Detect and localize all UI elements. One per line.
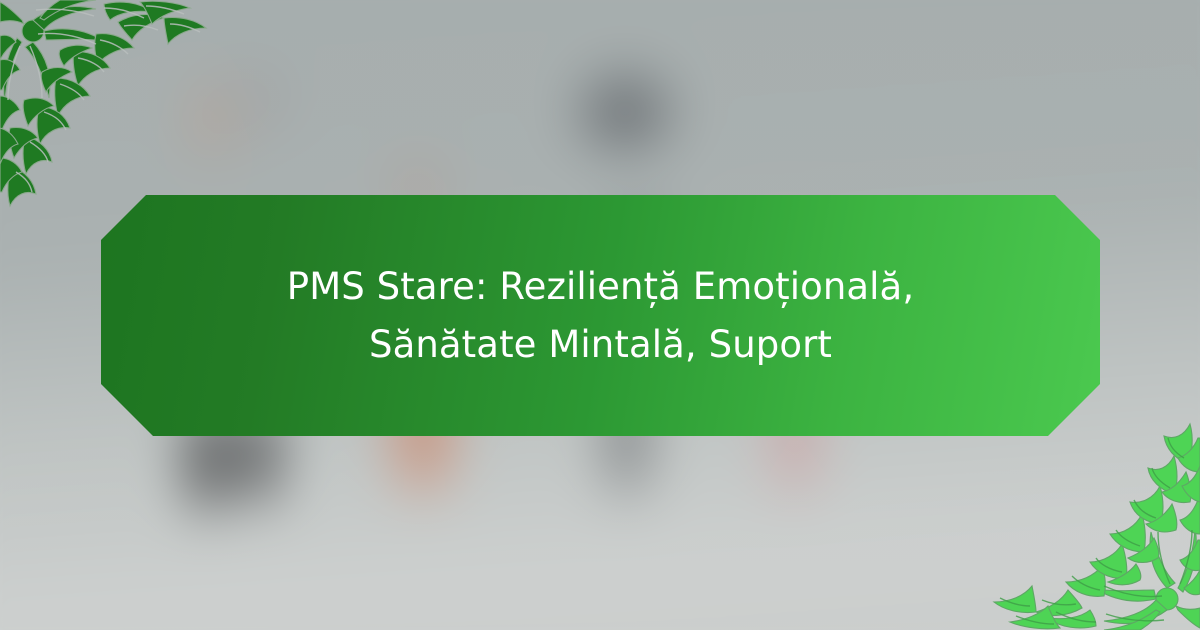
social-card: PMS Stare: Reziliență Emoțională, Sănăta… <box>0 0 1200 630</box>
page-title: PMS Stare: Reziliență Emoțională, Sănăta… <box>221 258 981 374</box>
title-banner: PMS Stare: Reziliență Emoțională, Sănăta… <box>101 195 1100 436</box>
